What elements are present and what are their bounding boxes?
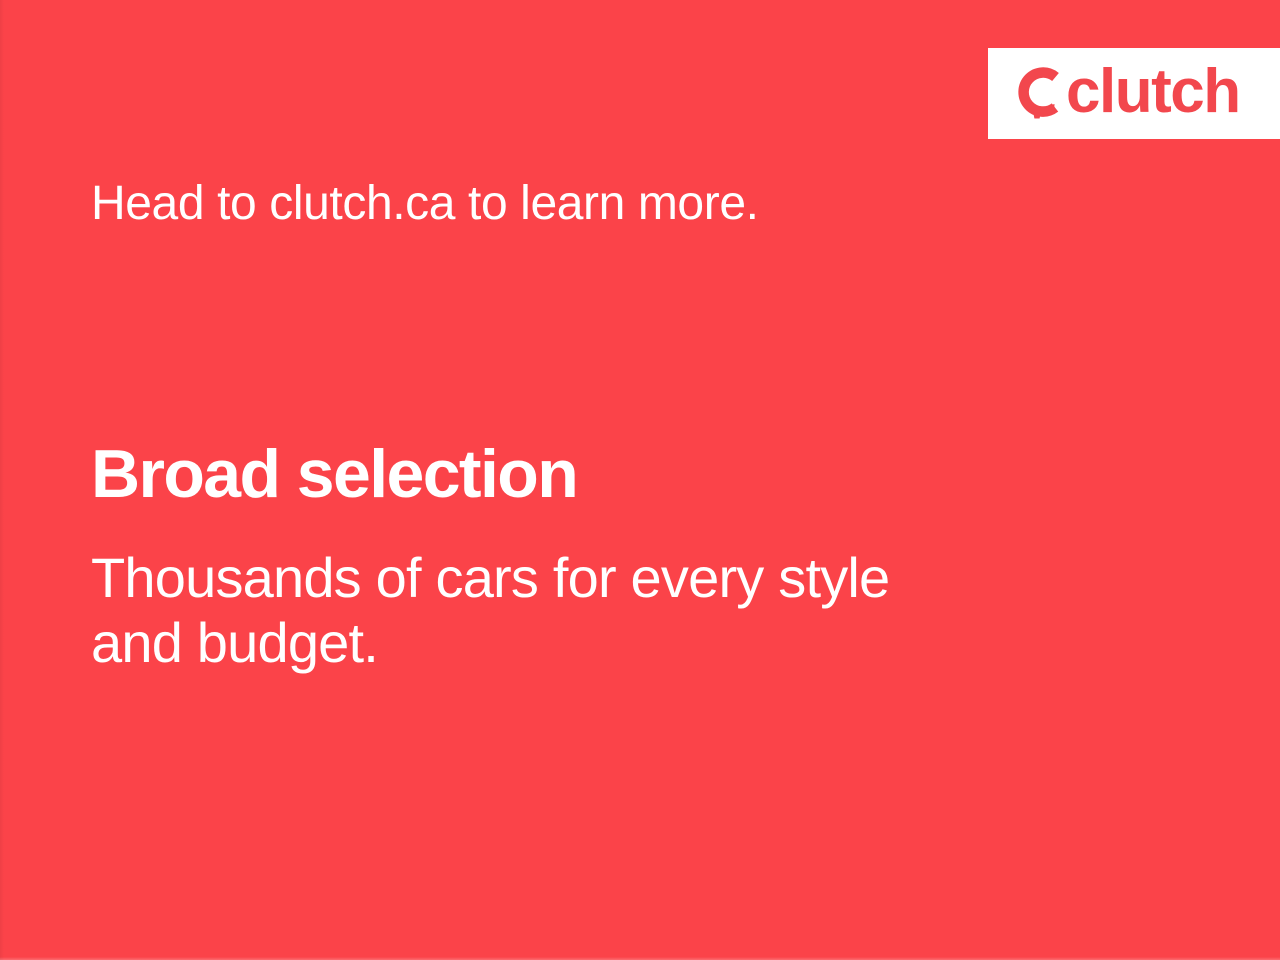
subheading-line-2: and budget. <box>91 610 1051 675</box>
headline-text: Broad selection <box>91 440 577 508</box>
brand-lockup: clutch <box>1014 63 1240 125</box>
subheading-line-1: Thousands of cars for every style <box>91 545 1051 610</box>
left-edge-shading <box>0 0 4 960</box>
tagline-text: Head to clutch.ca to learn more. <box>91 180 759 228</box>
promo-slide: clutch Head to clutch.ca to learn more. … <box>0 0 1280 960</box>
clutch-c-mark-icon <box>1014 65 1064 122</box>
brand-logo-plate: clutch <box>988 48 1280 139</box>
subheading-text: Thousands of cars for every style and bu… <box>91 545 1051 675</box>
brand-wordmark: clutch <box>1066 61 1240 123</box>
